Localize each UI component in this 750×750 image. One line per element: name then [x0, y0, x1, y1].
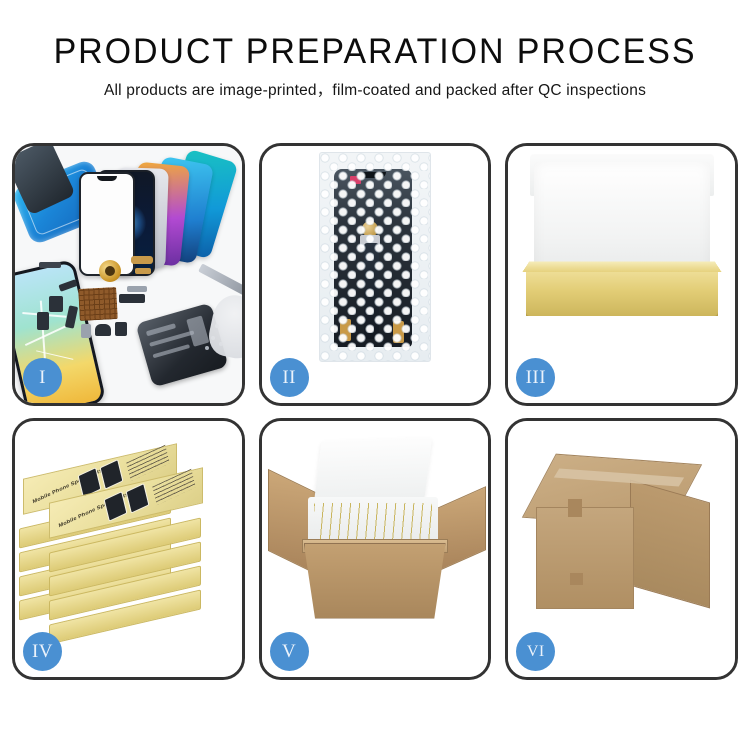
step-panel-4: Mobile Phone Spare Parts Mobile Phone Sp…	[12, 418, 245, 681]
step-panel-5: V	[259, 418, 492, 681]
carton-right-face	[630, 479, 710, 608]
mesh-chip-part	[78, 287, 118, 321]
box-photo-b2	[126, 483, 150, 514]
small-part-g	[119, 294, 145, 303]
phone-notch-icon	[97, 176, 117, 181]
page-title: PRODUCT PREPARATION PROCESS	[11, 34, 739, 69]
page-subtitle: All products are image-printed，film-coat…	[0, 83, 750, 99]
box-spec-lines-a	[126, 444, 169, 480]
small-part-d	[81, 324, 91, 338]
yellow-box-tray	[526, 270, 718, 316]
small-part-i	[37, 312, 49, 330]
small-part-h	[127, 286, 147, 292]
carton-tape-tab-upper	[568, 499, 582, 517]
small-part-flex-tab	[135, 268, 151, 274]
small-part-flex-cable	[131, 256, 153, 264]
box-stack: Mobile Phone Spare Parts Mobile Phone Sp…	[15, 439, 242, 639]
box-photo-a2	[100, 459, 124, 490]
small-part-f	[115, 322, 127, 336]
bubble-texture	[320, 153, 430, 361]
carton-front-face	[536, 507, 634, 609]
small-part-strip	[39, 262, 61, 268]
copper-coil-part	[99, 260, 121, 282]
header: PRODUCT PREPARATION PROCESS All products…	[0, 0, 750, 99]
step-badge-3: III	[516, 358, 555, 397]
step-panel-2: II	[259, 143, 492, 406]
bubble-wrap-bag	[319, 152, 431, 362]
step-badge-5: V	[270, 632, 309, 671]
product-preparation-process-infographic: PRODUCT PREPARATION PROCESS All products…	[0, 0, 750, 750]
process-step-grid: I II	[12, 143, 738, 680]
step-panel-6: VI	[505, 418, 738, 681]
carton-tape-tab-lower	[570, 573, 583, 585]
foam-lid-open	[314, 437, 432, 503]
small-part-b	[49, 296, 63, 312]
step-badge-4: IV	[23, 632, 62, 671]
step-badge-2: II	[270, 358, 309, 397]
step-panel-3: III	[505, 143, 738, 406]
carton-body	[304, 543, 446, 619]
phone-fan-group	[87, 160, 237, 270]
yellow-boxes-bundle	[314, 503, 432, 543]
step-panel-1: I	[12, 143, 245, 406]
small-part-e	[95, 324, 111, 336]
step-badge-1: I	[23, 358, 62, 397]
